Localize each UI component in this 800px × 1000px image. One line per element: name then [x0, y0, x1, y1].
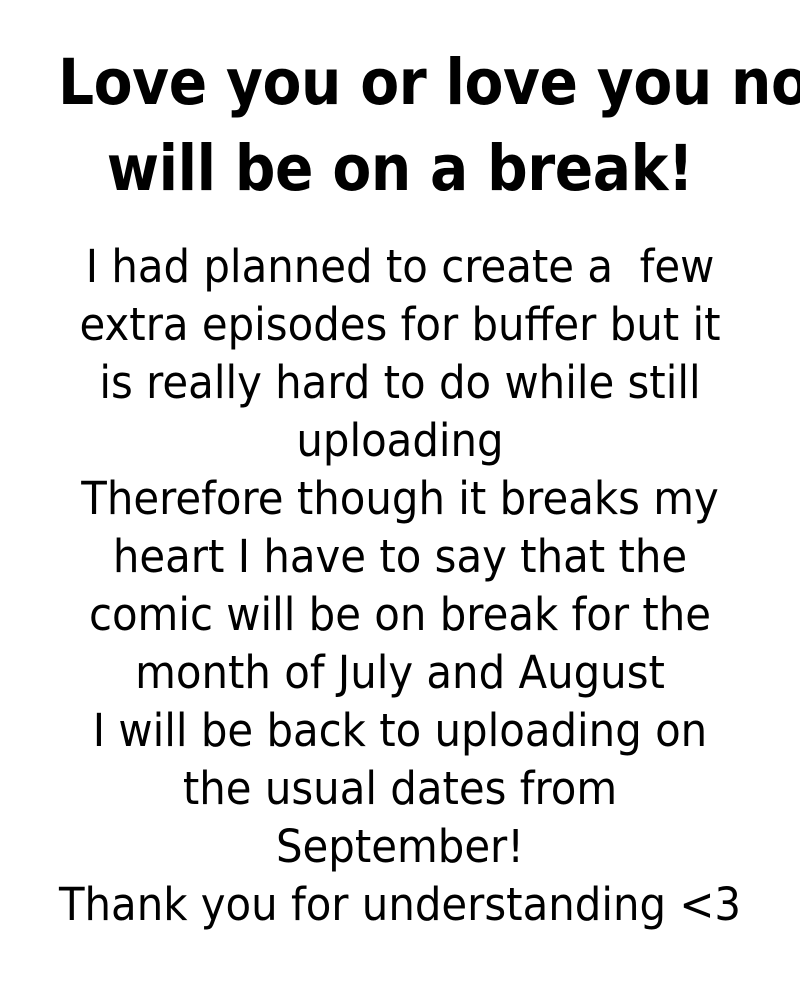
body-line-9: I will be back to uploading on — [47, 702, 754, 760]
body-line-1: I had planned to create a few — [47, 238, 754, 296]
body-line-7: comic will be on break for the — [47, 586, 754, 644]
body-line-8: month of July and August — [47, 644, 754, 702]
body-line-5: Therefore though it breaks my — [47, 470, 754, 528]
title-line-1: Love you or love you not — [58, 40, 742, 126]
body-line-11: September! — [47, 818, 754, 876]
body-line-12: Thank you for understanding <3 — [47, 876, 754, 934]
page-title: Love you or love you not will be on a br… — [20, 40, 780, 212]
body-line-6: heart I have to say that the — [47, 528, 754, 586]
body-line-4: uploading — [47, 412, 754, 470]
announcement-page: Love you or love you not will be on a br… — [0, 0, 800, 1000]
announcement-card: Love you or love you not will be on a br… — [0, 0, 800, 1000]
announcement-body: I had planned to create a few extra epis… — [20, 238, 780, 934]
title-line-2: will be on a break! — [58, 126, 742, 212]
body-line-2: extra episodes for buffer but it — [47, 296, 754, 354]
body-line-10: the usual dates from — [47, 760, 754, 818]
body-line-3: is really hard to do while still — [47, 354, 754, 412]
